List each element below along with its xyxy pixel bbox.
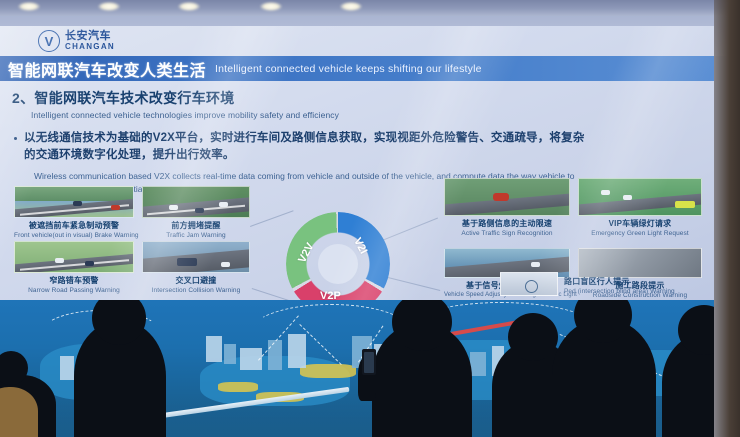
card-thumbnail	[500, 272, 558, 296]
terrain-patch	[218, 382, 258, 392]
building-shape	[60, 356, 74, 380]
ceiling-lamp-icon	[260, 2, 282, 11]
logo-text: 长安汽车 CHANGAN	[65, 31, 115, 51]
feature-card: 基于路侧信息的主动限速 Active Traffic Sign Recognit…	[444, 178, 570, 237]
card-title-en: Front vehicle(out in visual) Brake Warni…	[14, 232, 134, 239]
card-title-cn: 前方拥堵提醒	[142, 220, 250, 231]
ceiling-lamp-icon	[18, 2, 40, 11]
card-thumbnail	[444, 178, 570, 216]
card-title-en: Intersection Collision Warning	[142, 287, 250, 294]
terrain-patch	[300, 364, 356, 378]
thumb-car-icon	[169, 205, 178, 210]
feature-card: 交叉口避撞 Intersection Collision Warning	[142, 241, 250, 294]
feature-card: 被遮挡前车紧急制动预警 Front vehicle(out in visual)…	[14, 186, 134, 239]
section-heading-en: Intelligent connected vehicle technologi…	[31, 110, 339, 120]
bullet-item: 以无线通信技术为基础的V2X平台，实时进行车间及路侧信息获取，实现视距外危险警告…	[14, 130, 594, 163]
feature-card: 前方拥堵提醒 Traffic Jam Warning	[142, 186, 250, 239]
building-shape	[224, 344, 236, 364]
card-title-en: Ped (intersection blind area) Warning	[564, 288, 696, 295]
slide-title-bar: 智能网联汽车改变人类生活 Intelligent connected vehic…	[0, 56, 714, 81]
ceiling-lamp-icon	[178, 2, 200, 11]
audience-head	[508, 313, 558, 361]
card-title-en: Emergency Green Light Request	[578, 230, 702, 237]
thumb-car-icon	[85, 261, 94, 266]
card-title-cn: VIP车辆绿灯请求	[578, 218, 702, 229]
card-title-en: Traffic Jam Warning	[142, 232, 250, 239]
presentation-slide: V 长安汽车 CHANGAN 智能网联汽车改变人类生活 Intelligent …	[0, 26, 714, 316]
thumb-car-icon	[219, 202, 228, 207]
bullet-dot-icon	[14, 137, 17, 140]
section-heading-cn: 2、智能网联汽车技术改变行车环境	[12, 88, 339, 108]
screen-city-illustration	[0, 300, 714, 437]
section-heading: 2、智能网联汽车技术改变行车环境 Intelligent connected v…	[12, 88, 339, 120]
thumb-car-icon	[601, 190, 610, 195]
card-thumbnail	[142, 241, 250, 273]
feature-card: 窄路错车预警 Narrow Road Passing Warning	[14, 241, 134, 294]
thumb-car-icon	[177, 258, 197, 266]
connector-line	[384, 276, 441, 291]
pedestrian-icon	[525, 280, 538, 293]
card-title-cn: 基于路侧信息的主动限速	[444, 218, 570, 229]
feature-card: 路口盲区行人提示 Ped (intersection blind area) W…	[500, 272, 696, 296]
card-title-cn: 被遮挡前车紧急制动预警	[14, 220, 134, 231]
ceiling-lamp-icon	[340, 2, 362, 11]
donut-center	[318, 244, 358, 284]
thumb-car-icon	[493, 193, 509, 201]
card-title-cn: 交叉口避撞	[142, 275, 250, 286]
screenshot-root: V 长安汽车 CHANGAN 智能网联汽车改变人类生活 Intelligent …	[0, 0, 740, 437]
card-thumbnail	[14, 241, 134, 273]
thumb-car-icon	[221, 262, 230, 267]
logo-label-en: CHANGAN	[65, 43, 115, 51]
thumb-background	[15, 187, 133, 201]
room-pillar	[714, 0, 740, 437]
feature-card: VIP车辆绿灯请求 Emergency Green Light Request	[578, 178, 702, 237]
card-title-en: Narrow Road Passing Warning	[14, 287, 134, 294]
connector-line	[382, 218, 438, 241]
logo-label-cn: 长安汽车	[65, 31, 115, 42]
thumb-car-icon	[73, 201, 82, 206]
building-shape	[206, 336, 222, 362]
slide-title-cn: 智能网联汽车改变人类生活	[8, 57, 206, 81]
card-thumbnail	[578, 178, 702, 216]
card-title-en: Active Traffic Sign Recognition	[444, 230, 570, 237]
card-title-cn: 路口盲区行人提示	[564, 276, 696, 287]
thumb-car-icon	[195, 208, 204, 213]
bullet-text-cn: 以无线通信技术为基础的V2X平台，实时进行车间及路侧信息获取，实现视距外危险警告…	[24, 130, 594, 163]
thumb-car-icon	[55, 258, 64, 263]
thumb-road	[14, 253, 134, 273]
thumb-car-icon	[531, 262, 540, 267]
ceiling-lamp-icon	[98, 2, 120, 11]
slide-title-en: Intelligent connected vehicle keeps shif…	[215, 63, 482, 75]
green-light-indicator-icon	[675, 201, 695, 208]
changan-logo: V 长安汽车 CHANGAN	[38, 30, 115, 52]
v-emblem-icon: V	[38, 30, 60, 52]
smartphone-screen	[364, 352, 374, 373]
thumb-car-icon	[111, 205, 120, 210]
card-title-cn: 窄路错车预警	[14, 275, 134, 286]
card-thumbnail	[142, 186, 250, 218]
card-thumbnail	[14, 186, 134, 218]
thumb-car-icon	[623, 195, 632, 200]
